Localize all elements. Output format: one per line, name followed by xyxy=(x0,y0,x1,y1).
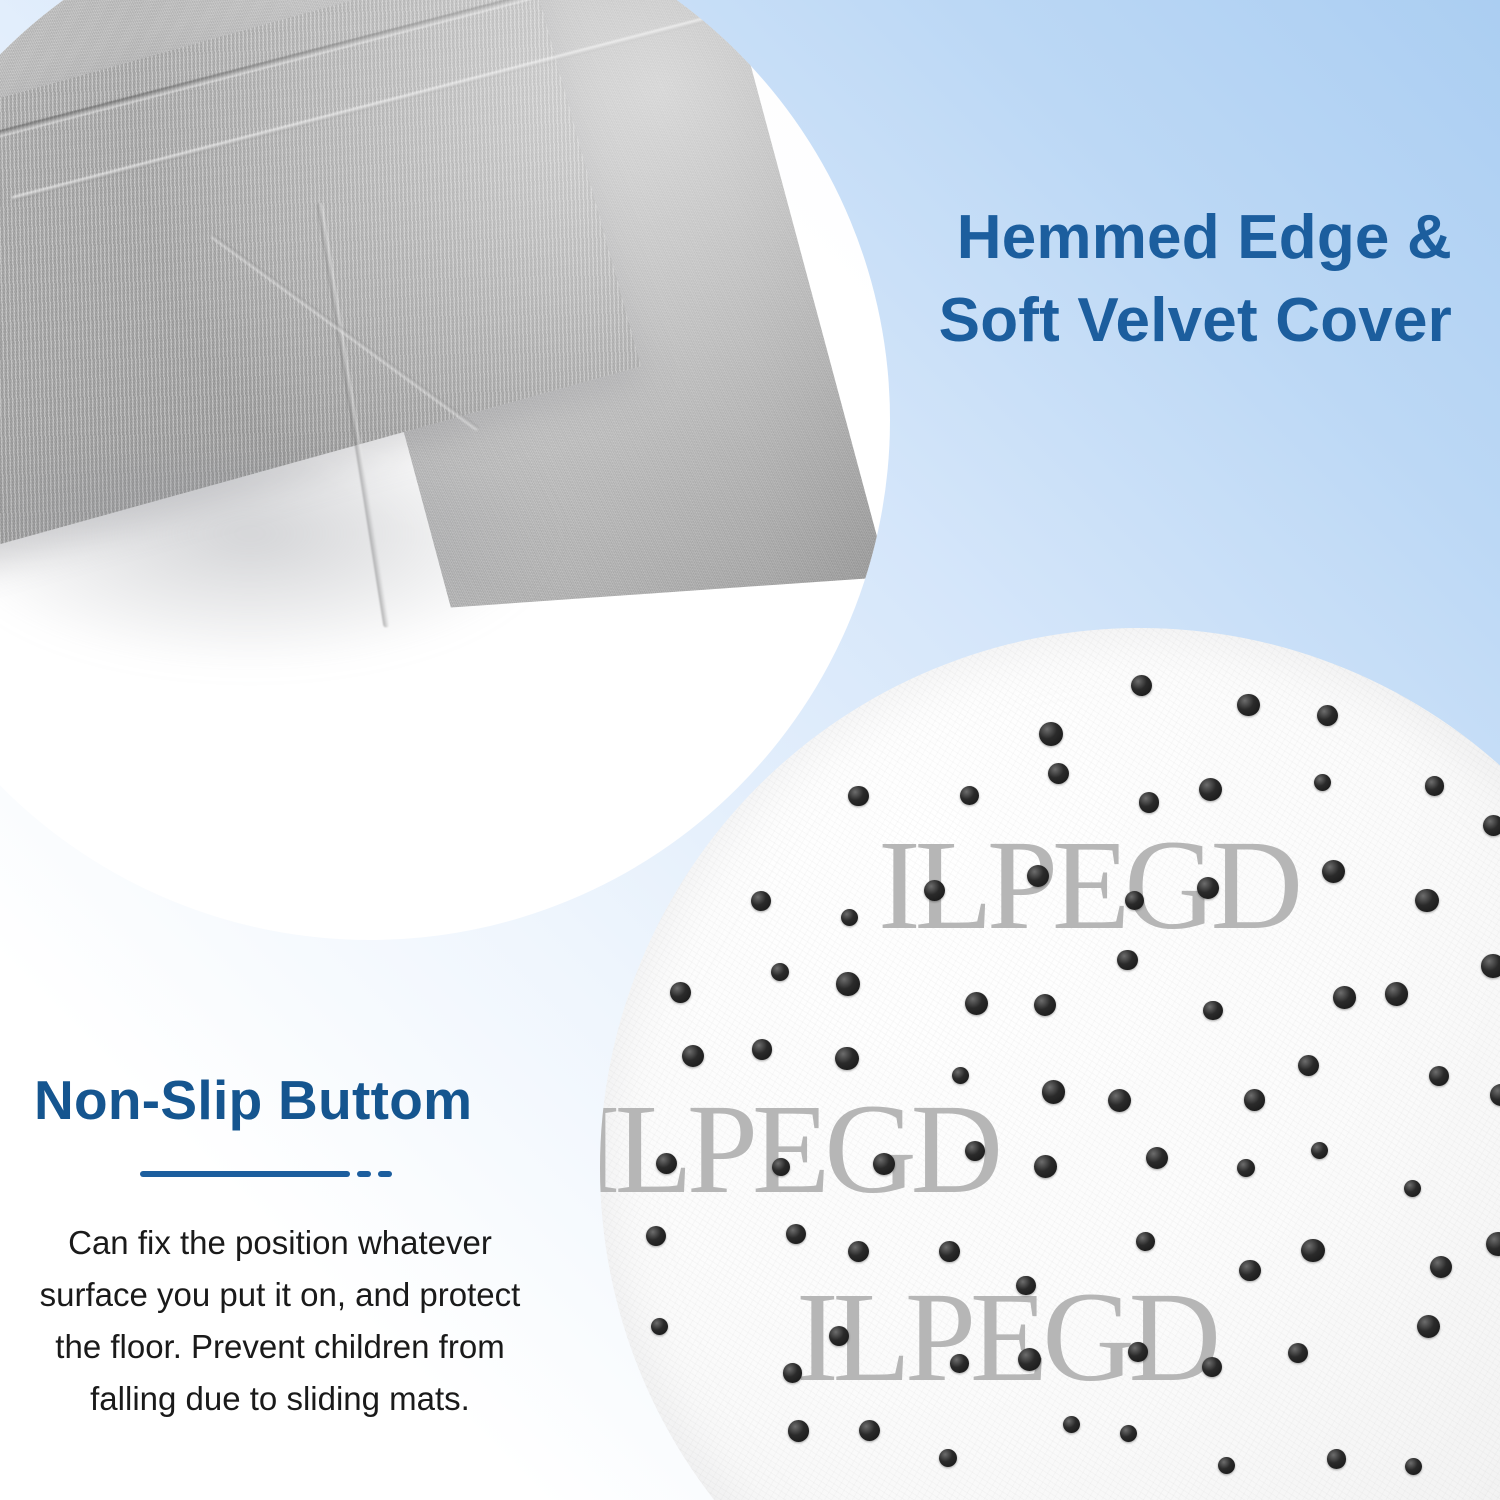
divider-dash-1 xyxy=(357,1171,371,1177)
non-slip-dot xyxy=(783,1363,803,1383)
brand-watermark: ILPEGD xyxy=(796,1264,1215,1411)
non-slip-dot xyxy=(670,982,691,1003)
non-slip-dot xyxy=(1405,1458,1422,1475)
non-slip-dot xyxy=(924,880,945,901)
non-slip-dot xyxy=(1131,675,1152,696)
non-slip-feature-block: Non-Slip Buttom Can fix the position wha… xyxy=(0,1070,560,1425)
non-slip-dot xyxy=(1136,1232,1155,1251)
non-slip-dot xyxy=(1429,1066,1449,1086)
cushion-drop-shadow xyxy=(0,460,560,670)
headline: Hemmed Edge & Soft Velvet Cover xyxy=(812,196,1452,362)
non-slip-dot xyxy=(1327,1449,1347,1469)
non-slip-dot xyxy=(1288,1343,1308,1363)
non-slip-dot xyxy=(1016,1276,1035,1295)
non-slip-dot xyxy=(1202,1357,1222,1377)
non-slip-dot xyxy=(836,972,860,996)
non-slip-dot xyxy=(1385,982,1408,1005)
divider xyxy=(140,1171,430,1177)
non-slip-dot xyxy=(771,963,789,981)
non-slip-dot xyxy=(1197,877,1219,899)
non-slip-dot xyxy=(651,1318,668,1335)
non-slip-dot xyxy=(848,1241,869,1262)
non-slip-dot xyxy=(1237,1159,1255,1177)
divider-dash-2 xyxy=(378,1171,392,1177)
non-slip-dot xyxy=(1117,950,1137,970)
headline-line-2: Soft Velvet Cover xyxy=(812,279,1452,362)
non-slip-dot xyxy=(1039,722,1063,746)
non-slip-dot xyxy=(1018,1348,1041,1371)
feature-title: Non-Slip Buttom xyxy=(0,1070,560,1131)
non-slip-dot xyxy=(752,1039,773,1060)
non-slip-dot xyxy=(1311,1142,1328,1159)
non-slip-dot xyxy=(939,1241,960,1262)
non-slip-dot xyxy=(835,1047,859,1071)
brand-watermark: ILPEGD xyxy=(600,1076,997,1223)
non-slip-dot xyxy=(950,1354,969,1373)
non-slip-dot xyxy=(1333,986,1356,1009)
feature-body-text: Can fix the position whatever surface yo… xyxy=(0,1217,560,1426)
non-slip-dot xyxy=(873,1153,895,1175)
non-slip-dot xyxy=(939,1449,958,1468)
non-slip-dot xyxy=(1203,1001,1223,1021)
non-slip-dot xyxy=(1239,1260,1260,1281)
divider-bar xyxy=(140,1171,350,1177)
non-slip-dot xyxy=(1481,954,1500,978)
non-slip-dot xyxy=(1244,1089,1265,1110)
grip-pad-photo-circle: ILPEGD ILPEGD ILPEGD xyxy=(600,628,1500,1500)
non-slip-dot xyxy=(859,1420,880,1441)
non-slip-dot xyxy=(1027,865,1049,887)
non-slip-dot xyxy=(786,1224,806,1244)
non-slip-dot xyxy=(1298,1055,1319,1076)
non-slip-dot xyxy=(1199,778,1222,801)
non-slip-dot xyxy=(1301,1239,1325,1263)
non-slip-dot xyxy=(1237,694,1260,717)
non-slip-dot xyxy=(772,1158,790,1176)
infographic-canvas: Hemmed Edge & Soft Velvet Cover ILPEGD I… xyxy=(0,0,1500,1500)
non-slip-dot xyxy=(1317,705,1339,727)
non-slip-dot xyxy=(1415,889,1438,912)
non-slip-dot xyxy=(1430,1256,1452,1278)
non-slip-dot xyxy=(848,786,869,807)
non-slip-dot xyxy=(1128,1342,1148,1362)
non-slip-dot xyxy=(1063,1416,1080,1433)
non-slip-dot xyxy=(788,1420,810,1442)
non-slip-dot xyxy=(829,1326,849,1346)
non-slip-dot xyxy=(1048,763,1069,784)
non-slip-dot xyxy=(965,1141,985,1161)
non-slip-dot xyxy=(1034,994,1056,1016)
headline-line-1: Hemmed Edge & xyxy=(957,203,1452,272)
non-slip-dot xyxy=(1034,1155,1057,1178)
non-slip-dot xyxy=(1483,815,1500,836)
